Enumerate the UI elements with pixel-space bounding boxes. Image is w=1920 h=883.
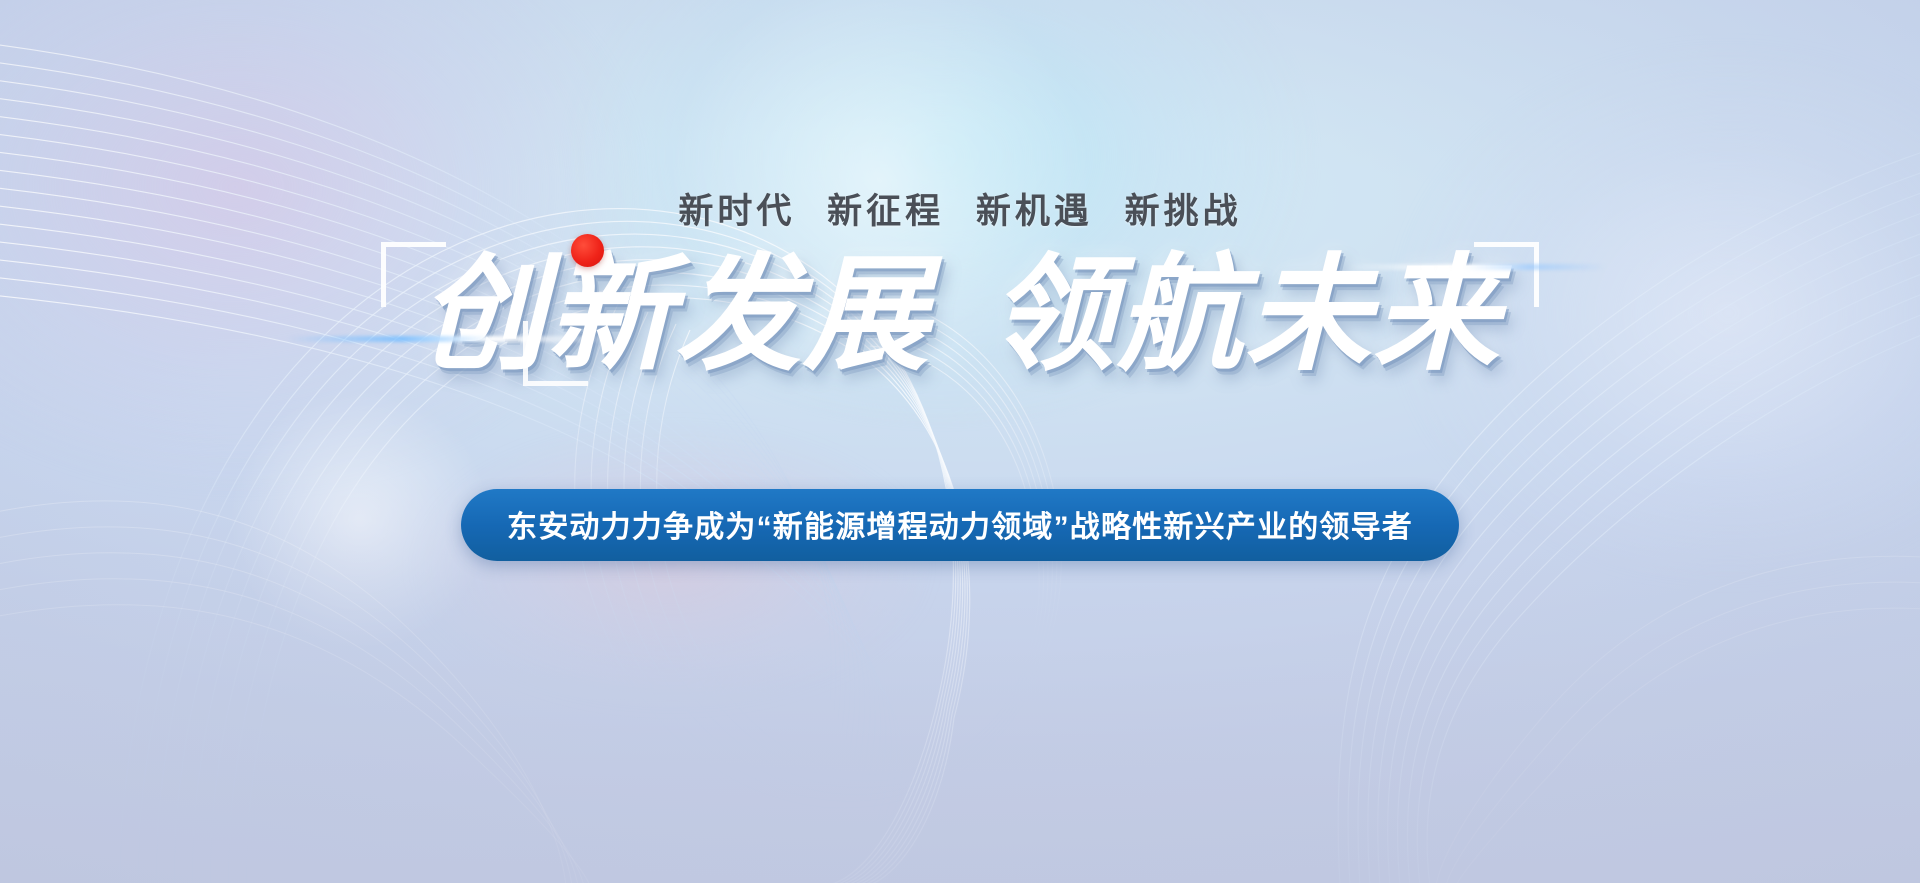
- tagline-item-1: 新时代: [678, 192, 795, 231]
- tagline-item-4: 新挑战: [1125, 192, 1242, 231]
- red-dot-accent-icon: [571, 234, 604, 267]
- light-streak-left-icon: [287, 336, 617, 342]
- headline-part-1: 创新发展: [419, 252, 931, 378]
- headline-wrapper: 创新发展 领航未来: [0, 228, 1920, 388]
- tagline: 新时代 新征程 新机遇 新挑战: [0, 183, 1920, 234]
- headline: 创新发展 领航未来: [373, 228, 1547, 388]
- slogan-pill: 东安动力力争成为“新能源增程动力领域”战略性新兴产业的领导者: [461, 489, 1459, 561]
- tagline-item-2: 新征程: [827, 192, 944, 231]
- headline-part-2: 领航未来: [989, 252, 1501, 378]
- promo-banner: 新时代 新征程 新机遇 新挑战 创新发展 领航未来 东安动力力争成为“新能源增程…: [0, 0, 1920, 883]
- banner-content: 新时代 新征程 新机遇 新挑战 创新发展 领航未来 东安动力力争成为“新能源增程…: [0, 0, 1920, 883]
- light-streak-right-icon: [1347, 264, 1607, 270]
- tagline-item-3: 新机遇: [976, 192, 1093, 231]
